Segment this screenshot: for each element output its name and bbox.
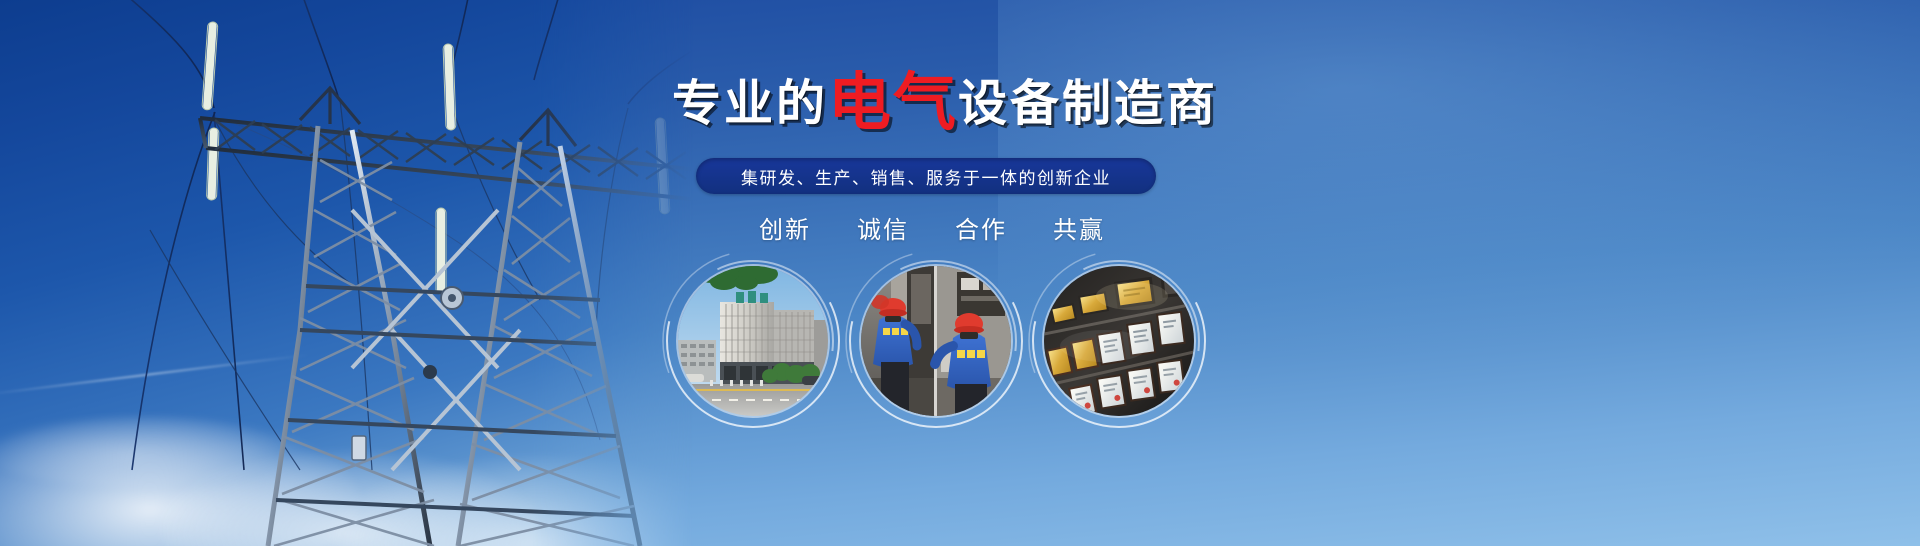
workers-onsite-photo	[861, 266, 1011, 416]
headline-accent: 电气	[828, 68, 958, 138]
keyword-winwin: 共赢	[1053, 210, 1105, 245]
company-building-circle	[670, 258, 836, 424]
workers-onsite-circle	[853, 258, 1019, 424]
headline-prefix: 专业的	[672, 77, 828, 131]
certificates-wall-circle	[1036, 258, 1202, 424]
subtitle-pill: 集研发、生产、销售、服务于一体的创新企业	[696, 158, 1156, 194]
pylon-lattice-icon	[0, 0, 700, 546]
subtitle-text: 集研发、生产、销售、服务于一体的创新企业	[741, 164, 1111, 189]
keyword-row: 创新 诚信 合作 共赢	[672, 210, 1192, 245]
page-title: 专业的电气设备制造商	[672, 72, 1192, 135]
keyword-integrity: 诚信	[857, 210, 909, 245]
circle-photo-row	[660, 258, 1220, 438]
hero-banner: 专业的电气设备制造商 集研发、生产、销售、服务于一体的创新企业 创新 诚信 合作…	[0, 0, 1920, 546]
keyword-innovation: 创新	[759, 210, 811, 245]
company-building-photo	[678, 266, 828, 416]
certificates-wall-photo	[1044, 266, 1194, 416]
keyword-cooperation: 合作	[955, 210, 1007, 245]
headline-suffix: 设备制造商	[958, 77, 1218, 131]
transmission-tower-photo	[0, 0, 700, 546]
